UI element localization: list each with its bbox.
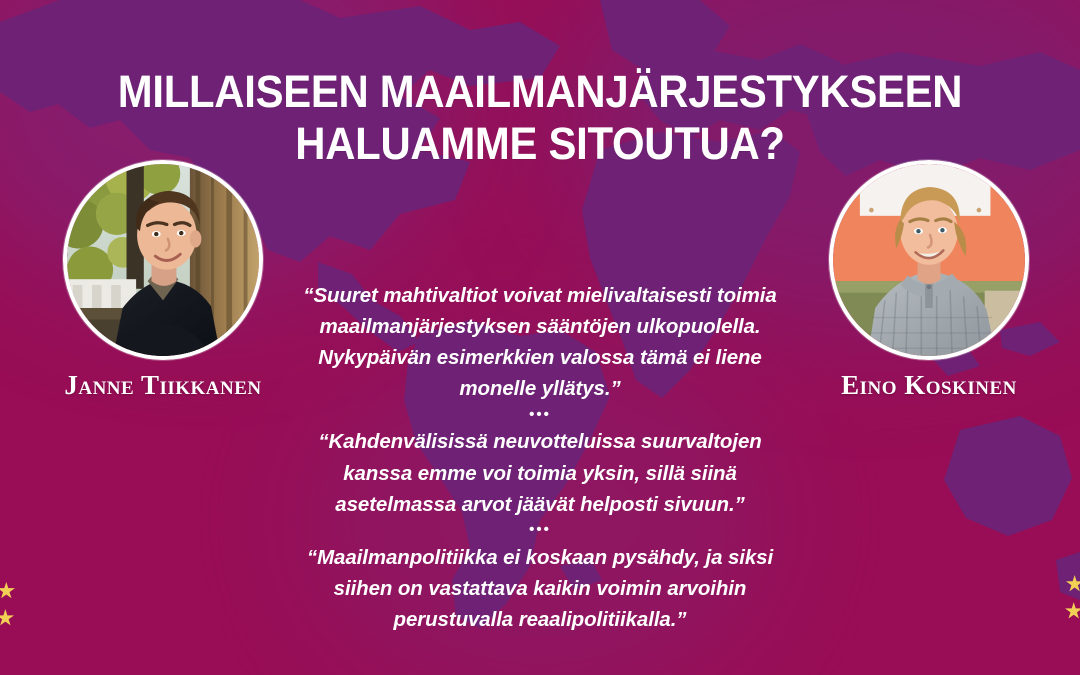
avatar xyxy=(63,160,263,360)
quote-separator-1: ••• xyxy=(282,406,798,425)
portrait-eino-koskinen xyxy=(833,164,1025,356)
page-title: MILLAISEEN MAAILMANJÄRJESTYKSEEN HALUAMM… xyxy=(38,66,1042,170)
speaker-name-left: Janne Tiikkanen xyxy=(48,370,278,401)
speaker-name-right: Eino Koskinen xyxy=(814,370,1044,401)
speaker-card-left: Janne Tiikkanen xyxy=(48,160,278,401)
portrait-janne-tiikkanen xyxy=(67,164,259,356)
quote-block: “Suuret mahtivaltiot voivat mielivaltais… xyxy=(282,280,798,635)
quote-1: “Suuret mahtivaltiot voivat mielivaltais… xyxy=(282,280,798,405)
avatar xyxy=(829,160,1029,360)
speaker-card-right: Eino Koskinen xyxy=(814,160,1044,401)
quote-separator-2: ••• xyxy=(282,521,798,540)
presentation-slide: MILLAISEEN MAAILMANJÄRJESTYKSEEN HALUAMM… xyxy=(0,0,1080,675)
quote-3: “Maailmanpolitiikka ei koskaan pysähdy, … xyxy=(282,542,798,635)
quote-2: “Kahdenvälisissä neuvotteluissa suurvalt… xyxy=(282,426,798,519)
